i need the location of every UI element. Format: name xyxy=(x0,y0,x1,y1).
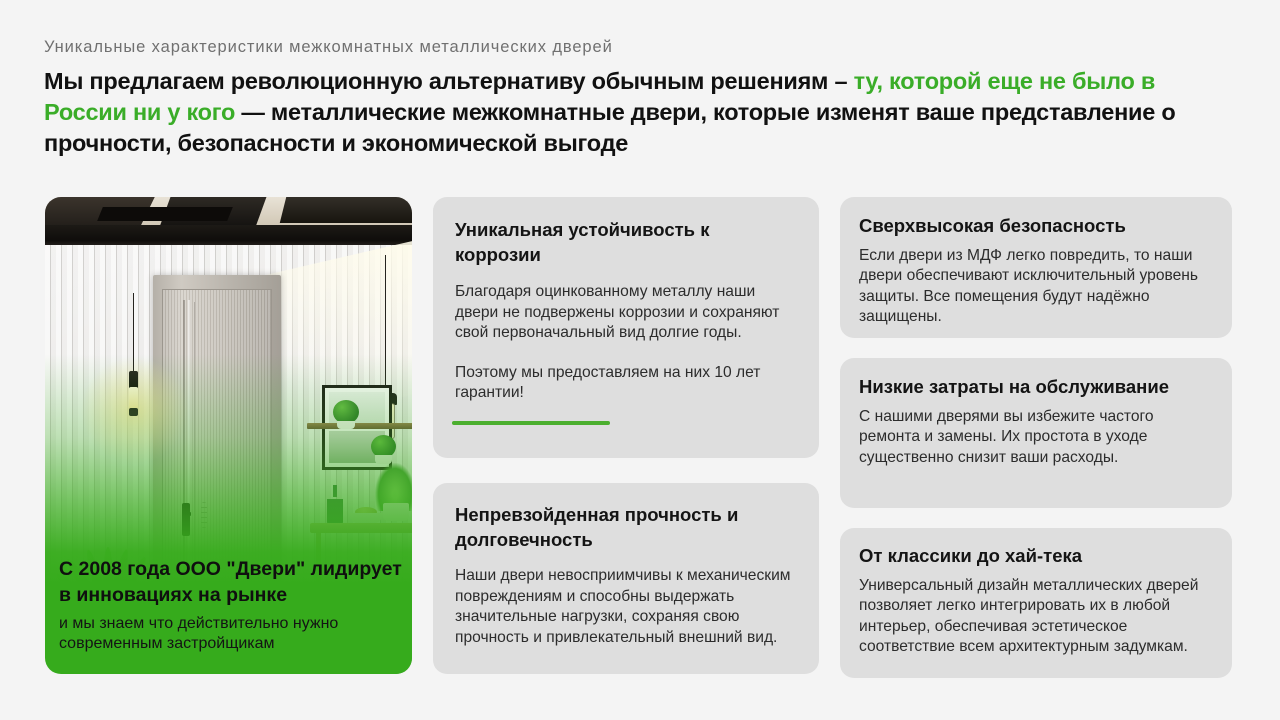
card-body: С нашими дверями вы избежите частого рем… xyxy=(859,407,1213,469)
card-body-secondary: Поэтому мы предоставляем на них 10 лет г… xyxy=(455,363,797,404)
card-title: Непревзойденная прочность и долговечност… xyxy=(455,503,797,552)
photo-overlay-title: С 2008 года ООО "Двери" лидирует в иннов… xyxy=(59,557,402,608)
ceiling-beam xyxy=(280,197,412,223)
card-title: Сверхвысокая безопасность xyxy=(859,214,1213,239)
ceiling-rail xyxy=(45,225,412,247)
card-title: Низкие затраты на обслуживание xyxy=(859,375,1213,400)
feature-card-maintenance[interactable]: Низкие затраты на обслуживание С нашими … xyxy=(840,358,1232,508)
slide-root: Уникальные характеристики межкомнатных м… xyxy=(0,0,1280,720)
card-body: Если двери из МДФ легко повредить, то на… xyxy=(859,246,1213,328)
eyebrow-text: Уникальные характеристики межкомнатных м… xyxy=(44,38,613,57)
card-body: Наши двери невосприимчивы к механическим… xyxy=(455,566,797,648)
feature-card-corrosion[interactable]: Уникальная устойчивость к коррозии Благо… xyxy=(433,197,819,458)
interior-photo-card: С 2008 года ООО "Двери" лидирует в иннов… xyxy=(45,197,412,674)
page-title: Мы предлагаем революционную альтернативу… xyxy=(44,66,1234,159)
card-title: Уникальная устойчивость к коррозии xyxy=(455,218,797,267)
card-body: Благодаря оцинкованному металлу наши две… xyxy=(455,282,797,344)
warranty-underline-accent xyxy=(452,421,610,425)
feature-card-security[interactable]: Сверхвысокая безопасность Если двери из … xyxy=(840,197,1232,338)
card-body: Универсальный дизайн металлических двере… xyxy=(859,576,1213,658)
card-title: От классики до хай-тека xyxy=(859,544,1213,569)
feature-card-durability[interactable]: Непревзойденная прочность и долговечност… xyxy=(433,483,819,674)
photo-overlay-subtitle: и мы знаем что действительно нужно совре… xyxy=(59,614,402,654)
photo-overlay-text: С 2008 года ООО "Двери" лидирует в иннов… xyxy=(59,557,402,654)
feature-card-design[interactable]: От классики до хай-тека Универсальный ди… xyxy=(840,528,1232,678)
ceiling-beam-inner xyxy=(97,207,233,221)
headline-segment-1: Мы предлагаем революционную альтернативу… xyxy=(44,68,854,94)
